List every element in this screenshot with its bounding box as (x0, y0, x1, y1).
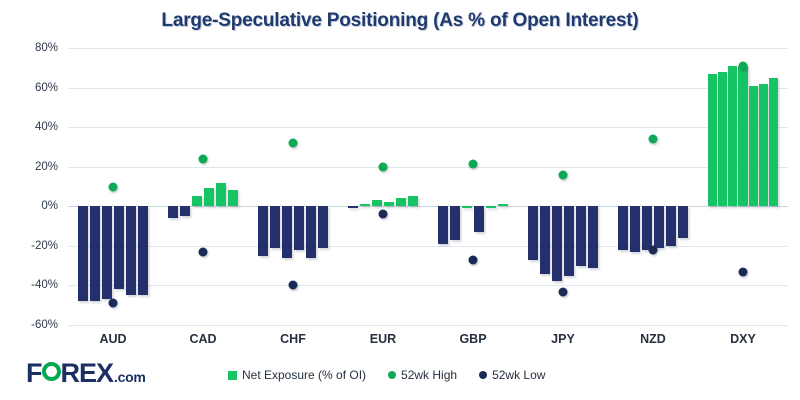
bar-jpy-3 (552, 206, 563, 281)
y-tick-label: 40% (8, 121, 58, 133)
forex-com-logo: F REX .com (26, 358, 146, 389)
bar-cad-2 (180, 206, 191, 216)
y-tick-label: 20% (8, 161, 58, 173)
legend-item-52wk-low: 52wk Low (479, 368, 545, 382)
bar-jpy-6 (588, 206, 599, 267)
bar-gbp-5 (486, 206, 497, 208)
bar-nzd-5 (666, 206, 677, 246)
chart-title: Large-Speculative Positioning (As % of O… (0, 10, 800, 32)
bar-nzd-1 (618, 206, 629, 250)
bar-gbp-3 (462, 206, 473, 208)
y-tick-label: -60% (8, 319, 58, 331)
bar-gbp-4 (474, 206, 485, 232)
y-tick-label: -20% (8, 240, 58, 252)
bar-dxy-1 (708, 74, 717, 207)
bar-eur-2 (360, 204, 371, 206)
bar-dxy-6 (759, 84, 768, 207)
bar-aud-3 (102, 206, 113, 299)
bar-jpy-5 (576, 206, 587, 265)
x-tick-label-aud: AUD (68, 332, 158, 346)
bar-gbp-6 (498, 204, 509, 206)
legend-label: Net Exposure (% of OI) (242, 368, 366, 382)
marker-52wk-high-gbp (469, 159, 478, 168)
bar-jpy-1 (528, 206, 539, 259)
bar-cad-4 (204, 188, 215, 206)
marker-52wk-high-cad (199, 154, 208, 163)
marker-52wk-high-eur (379, 162, 388, 171)
marker-52wk-high-dxy (739, 61, 748, 70)
legend-item-52wk-high: 52wk High (388, 368, 457, 382)
bar-dxy-2 (718, 72, 727, 207)
legend-circle-high-icon (388, 371, 396, 379)
bar-cad-1 (168, 206, 179, 218)
bar-aud-1 (78, 206, 89, 301)
bar-jpy-2 (540, 206, 551, 273)
bar-chf-5 (306, 206, 317, 257)
x-tick-label-cad: CAD (158, 332, 248, 346)
legend-item-net-exposure: Net Exposure (% of OI) (228, 368, 366, 382)
bar-dxy-4 (738, 66, 747, 206)
bar-cad-5 (216, 183, 227, 207)
marker-52wk-low-aud (109, 299, 118, 308)
bar-group-aud (68, 48, 158, 325)
bar-group-jpy (518, 48, 608, 325)
x-tick-label-jpy: JPY (518, 332, 608, 346)
marker-52wk-low-chf (289, 281, 298, 290)
bar-chf-4 (294, 206, 305, 250)
legend-label: 52wk Low (492, 368, 545, 382)
bar-group-dxy (698, 48, 788, 325)
plot-area (68, 48, 788, 325)
bar-nzd-6 (678, 206, 689, 238)
bar-eur-1 (348, 206, 359, 208)
bar-jpy-4 (564, 206, 575, 275)
chart-legend: Net Exposure (% of OI) 52wk High 52wk Lo… (228, 368, 545, 382)
bar-eur-4 (384, 202, 395, 206)
bar-chf-3 (282, 206, 293, 257)
bar-eur-3 (372, 200, 383, 206)
bar-nzd-3 (642, 206, 653, 250)
marker-52wk-low-eur (379, 210, 388, 219)
bar-aud-4 (114, 206, 125, 289)
bar-aud-2 (90, 206, 101, 301)
bar-gbp-1 (438, 206, 449, 244)
bar-group-chf (248, 48, 338, 325)
marker-52wk-high-jpy (559, 170, 568, 179)
marker-52wk-low-nzd (649, 245, 658, 254)
bar-cad-3 (192, 196, 203, 206)
y-tick-label: 60% (8, 82, 58, 94)
chart-container: Large-Speculative Positioning (As % of O… (0, 0, 800, 400)
legend-square-icon (228, 371, 237, 380)
bar-cad-6 (228, 190, 239, 206)
marker-52wk-low-jpy (559, 288, 568, 297)
marker-52wk-high-chf (289, 138, 298, 147)
legend-label: 52wk High (401, 368, 457, 382)
bar-group-cad (158, 48, 248, 325)
x-tick-label-nzd: NZD (608, 332, 698, 346)
x-tick-label-dxy: DXY (698, 332, 788, 346)
x-tick-label-chf: CHF (248, 332, 338, 346)
bar-nzd-2 (630, 206, 641, 252)
y-tick-label: 0% (8, 200, 58, 212)
bar-chf-1 (258, 206, 269, 255)
logo-text-dotcom: .com (114, 369, 145, 385)
bar-gbp-2 (450, 206, 461, 240)
legend-circle-low-icon (479, 371, 487, 379)
bar-group-eur (338, 48, 428, 325)
bar-group-nzd (608, 48, 698, 325)
marker-52wk-low-cad (199, 247, 208, 256)
bar-aud-5 (126, 206, 137, 295)
y-tick-label: -40% (8, 279, 58, 291)
marker-52wk-high-aud (109, 182, 118, 191)
bar-eur-6 (408, 196, 419, 206)
logo-text-f: F (26, 358, 42, 389)
x-tick-label-eur: EUR (338, 332, 428, 346)
bar-chf-2 (270, 206, 281, 248)
bar-dxy-7 (769, 78, 778, 207)
y-tick-label: 80% (8, 42, 58, 54)
marker-52wk-low-gbp (469, 255, 478, 264)
bar-dxy-5 (749, 86, 758, 207)
x-tick-label-gbp: GBP (428, 332, 518, 346)
logo-ring-icon (42, 362, 61, 381)
bar-dxy-3 (728, 66, 737, 206)
logo-text-rex: REX (61, 358, 114, 389)
bar-aud-6 (138, 206, 149, 295)
bar-nzd-4 (654, 206, 665, 248)
bar-group-gbp (428, 48, 518, 325)
marker-52wk-low-dxy (739, 267, 748, 276)
bar-eur-5 (396, 198, 407, 206)
marker-52wk-high-nzd (649, 135, 658, 144)
bar-chf-6 (318, 206, 329, 248)
